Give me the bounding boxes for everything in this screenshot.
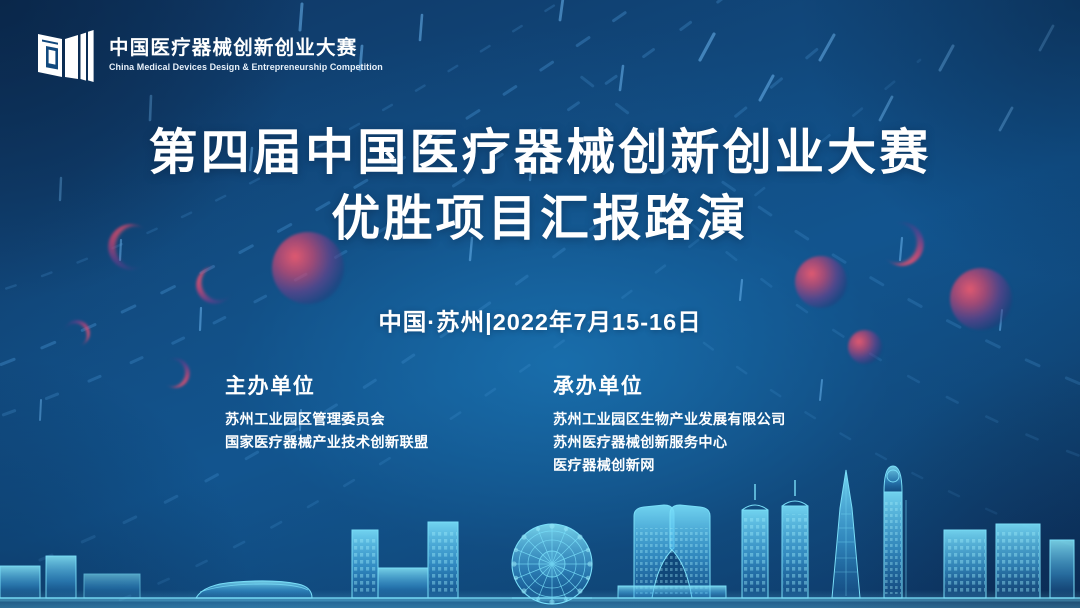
organizers-section: 主办单位 苏州工业园区管理委员会 国家医疗器械产业技术创新联盟 承办单位 苏州工… [0, 370, 1080, 478]
logo-title-en: China Medical Devices Design & Entrepren… [109, 62, 383, 72]
event-poster: 中国医疗器械创新创业大赛 China Medical Devices Desig… [0, 0, 1080, 608]
organizer-column-host: 主办单位 苏州工业园区管理委员会 国家医疗器械产业技术创新联盟 [217, 370, 535, 478]
organizer-item: 苏州工业园区管理委员会 [225, 409, 535, 432]
brand-logo: 中国医疗器械创新创业大赛 China Medical Devices Desig… [36, 28, 387, 82]
organizer-item: 国家医疗器械产业技术创新联盟 [225, 432, 535, 455]
organizer-heading-host: 主办单位 [225, 370, 535, 400]
logo-title-cn: 中国医疗器械创新创业大赛 [109, 38, 387, 59]
title-line-1: 第四届中国医疗器械创新创业大赛 [0, 126, 1080, 181]
date-location-line: 中国·苏州|2022年7月15-16日 [0, 303, 1080, 337]
organizer-heading-coorganizer: 承办单位 [553, 370, 863, 400]
title-line-2: 优胜项目汇报路演 [0, 192, 1080, 247]
organizer-item: 苏州工业园区生物产业发展有限公司 [553, 409, 863, 432]
organizer-item: 医疗器械创新网 [553, 455, 863, 478]
poster-title: 第四届中国医疗器械创新创业大赛 优胜项目汇报路演 [0, 126, 1080, 247]
organizer-column-coorganizer: 承办单位 苏州工业园区生物产业发展有限公司 苏州医疗器械创新服务中心 医疗器械创… [535, 370, 863, 478]
open-book-door-logo-icon [36, 28, 98, 82]
organizer-item: 苏州医疗器械创新服务中心 [553, 432, 863, 455]
logo-text-group: 中国医疗器械创新创业大赛 China Medical Devices Desig… [109, 38, 387, 71]
